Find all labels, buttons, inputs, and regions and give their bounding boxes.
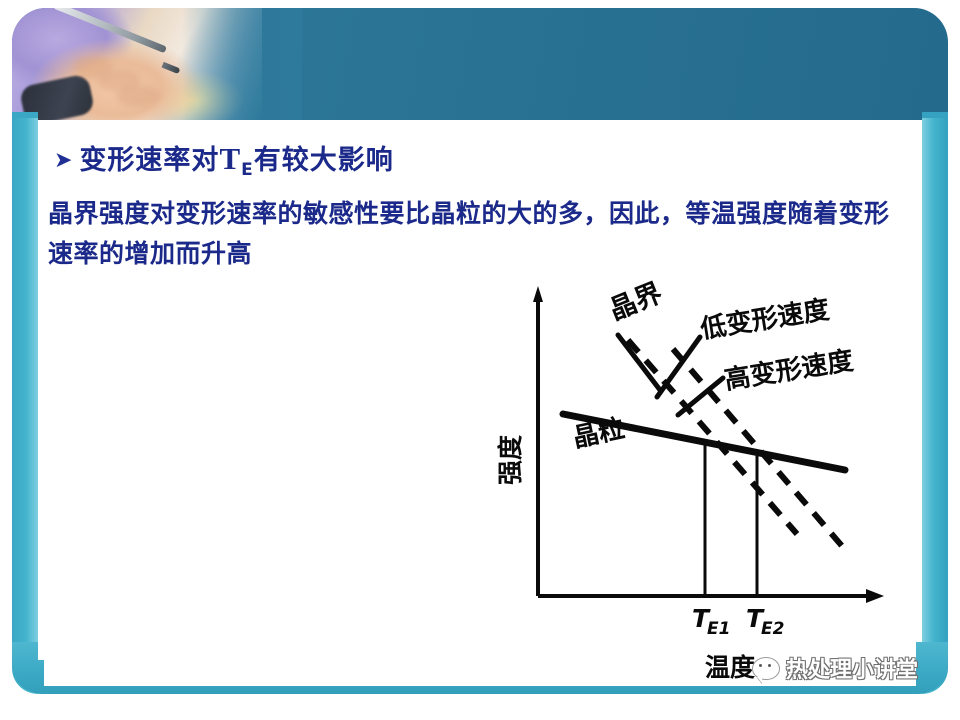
tick-label-TE2-sub: E2 [761,619,784,639]
tick-label-TE2: T E2 [746,604,784,639]
chart-svg: 晶界 低变形速度 高变形速度 晶粒 强度 温度 T E1 T E2 [0,0,960,720]
annotation-grain-boundary: 晶界 [605,278,667,327]
annotation-high-deformation-rate: 高变形速度 [722,345,855,396]
y-axis-arrow-icon [533,286,543,302]
strength-temperature-diagram: 晶界 低变形速度 高变形速度 晶粒 强度 温度 T E1 T E2 [0,0,960,720]
leader-line-grain-boundary [618,335,660,390]
y-axis-title: 强度 [496,435,525,485]
tick-label-TE1: T E1 [692,604,730,639]
slide: ➤ 变形速率对 T E 有较大影响 晶界强度对变形速率的敏感性要比晶粒的大的多，… [0,0,960,720]
leader-line-low-deformation-rate [657,337,700,397]
x-axis-title: 温度 [705,653,755,682]
x-axis-arrow-icon [866,589,884,603]
annotation-low-deformation-rate: 低变形速度 [697,294,831,345]
tick-label-TE1-sub: E1 [707,619,730,639]
